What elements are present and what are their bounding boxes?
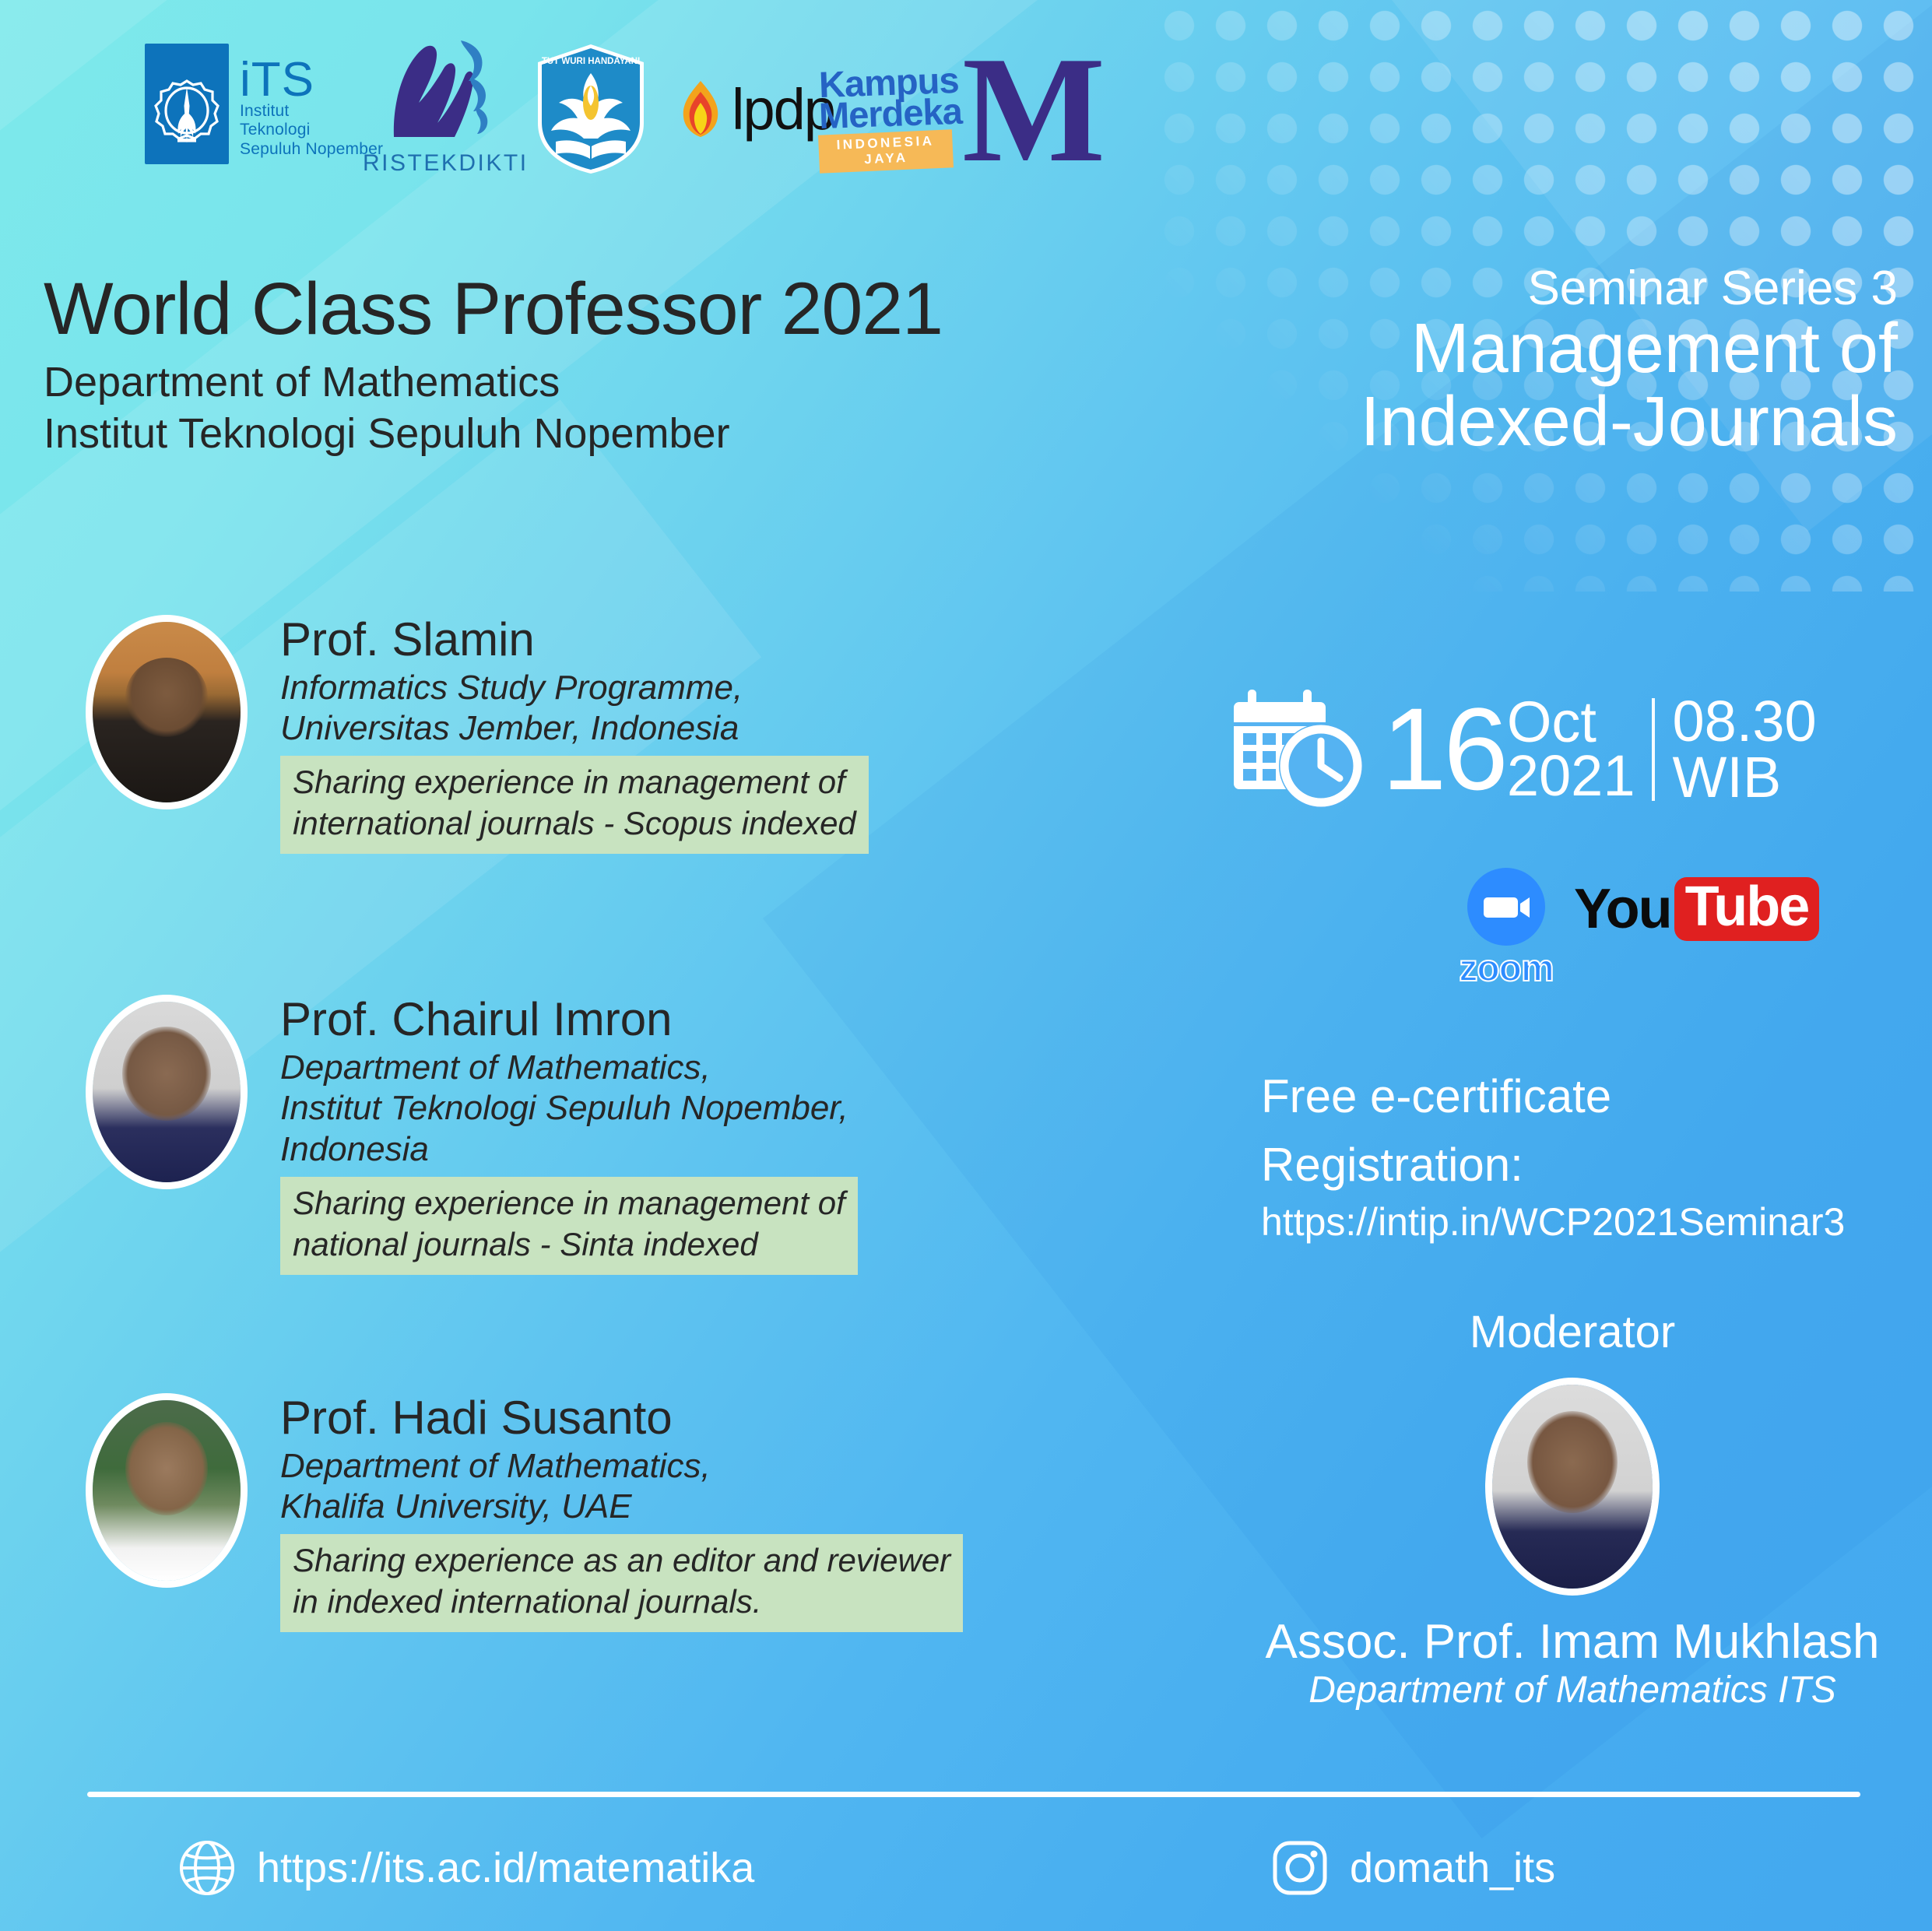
speaker-description-line1: Sharing experience in management of <box>293 1183 845 1224</box>
speaker-description: Sharing experience in management of nati… <box>280 1177 858 1275</box>
platform-logos: zoom You Tube <box>1448 868 1819 990</box>
footer-website-text: https://its.ac.id/matematika <box>257 1847 754 1889</box>
youtube-tube-badge: Tube <box>1674 877 1820 941</box>
m-monogram-logo: M <box>962 45 1105 176</box>
page-subtitle-department: Department of Mathematics <box>44 357 962 409</box>
footer: https://its.ac.id/matematika domath_its <box>0 1831 1932 1924</box>
zoom-wordmark: zoom <box>1448 947 1565 990</box>
sponsor-logo-row: iTS Institut Teknologi Sepuluh Nopember … <box>0 22 1932 170</box>
speaker-avatar <box>86 995 248 1189</box>
speaker-affiliation-line1: Informatics Study Programme, <box>280 668 1074 709</box>
speaker-description-line2: national journals - Sinta indexed <box>293 1224 845 1266</box>
moderator-department: Department of Mathematics ITS <box>1214 1670 1930 1712</box>
ristekdikti-emblem-icon <box>363 36 518 145</box>
speaker-affiliation-line2: Universitas Jember, Indonesia <box>280 708 1074 750</box>
moderator-avatar <box>1485 1378 1660 1596</box>
speaker-affiliation-line1: Department of Mathematics, <box>280 1446 1074 1487</box>
speaker-description-line2: in indexed international journals. <box>293 1582 950 1623</box>
footer-instagram-item[interactable]: domath_its <box>1270 1838 1555 1898</box>
speaker-card: Prof. Slamin Informatics Study Programme… <box>86 615 1074 854</box>
youtube-logo: You Tube <box>1574 877 1819 941</box>
seminar-topic-line1: Management of <box>1042 313 1898 386</box>
seminar-topic-line2: Indexed-Journals <box>1042 386 1898 459</box>
speaker-name: Prof. Hadi Susanto <box>280 1393 1074 1443</box>
datetime-separator <box>1652 698 1655 801</box>
kampus-merdeka-ribbon: INDONESIA JAYA <box>818 129 954 173</box>
speaker-description-line1: Sharing experience in management of <box>293 762 856 803</box>
kampus-merdeka-logo: Kampus Merdeka INDONESIA JAYA <box>819 67 959 170</box>
speaker-card: Prof. Hadi Susanto Department of Mathema… <box>86 1393 1074 1632</box>
event-timezone: WIB <box>1672 750 1816 805</box>
event-day: 16 <box>1382 701 1505 797</box>
seminar-poster: iTS Institut Teknologi Sepuluh Nopember … <box>0 0 1932 1931</box>
registration-label: Registration: <box>1261 1135 1930 1195</box>
event-month: Oct <box>1507 696 1635 749</box>
moderator-block: Moderator Assoc. Prof. Imam Mukhlash Dep… <box>1214 1308 1930 1712</box>
page-title-block: World Class Professor 2021 Department of… <box>44 272 962 460</box>
globe-icon <box>177 1838 237 1898</box>
footer-divider <box>87 1792 1860 1797</box>
speaker-description-line1: Sharing experience as an editor and revi… <box>293 1540 950 1582</box>
speaker-description: Sharing experience in management of inte… <box>280 756 869 854</box>
event-year: 2021 <box>1507 750 1635 802</box>
its-emblem-icon <box>145 44 229 164</box>
ristekdikti-label: RISTEKDIKTI <box>363 150 518 177</box>
seminar-series-label: Seminar Series 3 <box>1042 265 1898 313</box>
its-sub-3: Sepuluh Nopember <box>240 140 383 160</box>
its-sub-2: Teknologi <box>240 121 383 140</box>
speaker-description: Sharing experience as an editor and revi… <box>280 1534 963 1632</box>
footer-instagram-text: domath_its <box>1350 1847 1555 1889</box>
speaker-affiliation-line2: Khalifa University, UAE <box>280 1487 1074 1528</box>
lpdp-flame-icon <box>674 78 727 142</box>
speaker-affiliation-line1: Department of Mathematics, <box>280 1048 1074 1089</box>
speaker-avatar <box>86 1393 248 1588</box>
lpdp-logo: lpdp <box>674 78 834 142</box>
speaker-card: Prof. Chairul Imron Department of Mathem… <box>86 995 1074 1275</box>
decorative-band-lower <box>0 399 761 1472</box>
speaker-name: Prof. Chairul Imron <box>280 995 1074 1044</box>
registration-block: Free e-certificate Registration: https:/… <box>1261 1066 1930 1245</box>
instagram-icon <box>1270 1838 1330 1898</box>
seminar-series-header: Seminar Series 3 Management of Indexed-J… <box>1042 265 1898 458</box>
speaker-avatar <box>86 615 248 809</box>
moderator-name: Assoc. Prof. Imam Mukhlash <box>1214 1616 1930 1669</box>
its-logo: iTS Institut Teknologi Sepuluh Nopember <box>145 44 383 164</box>
page-subtitle-institute: Institut Teknologi Sepuluh Nopember <box>44 409 962 460</box>
its-wordmark: iTS <box>240 59 383 102</box>
calendar-clock-icon <box>1226 685 1374 813</box>
speaker-name: Prof. Slamin <box>280 615 1074 665</box>
page-title: World Class Professor 2021 <box>44 272 962 346</box>
tut-wuri-handayani-logo: TUT WURI HANDAYANI <box>532 42 649 174</box>
registration-url[interactable]: https://intip.in/WCP2021Seminar3 <box>1261 1199 1930 1245</box>
event-time: 08.30 <box>1672 693 1816 749</box>
svg-text:TUT WURI HANDAYANI: TUT WURI HANDAYANI <box>542 57 640 66</box>
tut-wuri-emblem-icon: TUT WURI HANDAYANI <box>532 42 649 176</box>
speaker-description-line2: international journals - Scopus indexed <box>293 803 856 844</box>
footer-website-item[interactable]: https://its.ac.id/matematika <box>177 1838 754 1898</box>
moderator-label: Moderator <box>1214 1308 1930 1357</box>
kampus-merdeka-line2: Merdeka <box>818 95 959 133</box>
zoom-camera-icon <box>1467 868 1545 946</box>
ristekdikti-logo: RISTEKDIKTI <box>363 36 518 177</box>
speaker-affiliation-line2: Institut Teknologi Sepuluh Nopember, <box>280 1088 1074 1129</box>
certificate-note: Free e-certificate <box>1261 1066 1930 1127</box>
zoom-logo: zoom <box>1448 868 1565 990</box>
speaker-affiliation-line3: Indonesia <box>280 1129 1074 1171</box>
event-datetime: 16 Oct 2021 08.30 WIB <box>1226 685 1817 813</box>
youtube-you-text: You <box>1574 881 1671 937</box>
